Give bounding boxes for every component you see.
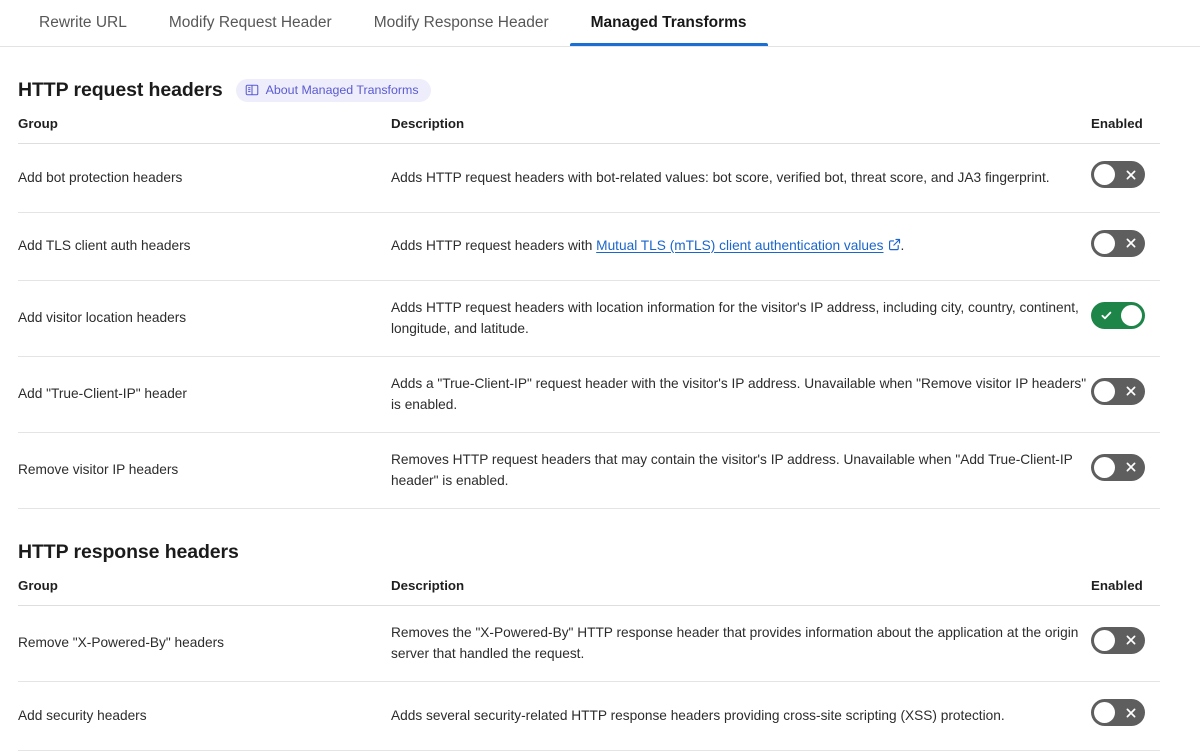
row-description: Adds HTTP request headers with bot-relat… xyxy=(391,144,1091,213)
row-group-label: Add bot protection headers xyxy=(18,144,391,213)
tab-rewrite-url[interactable]: Rewrite URL xyxy=(18,0,148,46)
column-header-enabled: Enabled xyxy=(1091,116,1160,144)
toggle-remove-visitor-ip-headers[interactable] xyxy=(1091,454,1145,481)
column-header-group: Group xyxy=(18,116,391,144)
request-section-header: HTTP request headers About Managed Trans… xyxy=(18,47,1160,116)
column-header-description: Description xyxy=(391,578,1091,606)
toggle-add-security-headers[interactable] xyxy=(1091,699,1145,726)
book-icon xyxy=(245,83,259,97)
row-description-suffix: . xyxy=(901,238,905,253)
row-group-label: Add "True-Client-IP" header xyxy=(18,357,391,433)
toggle-remove-x-powered-by-headers[interactable] xyxy=(1091,627,1145,654)
toggle-add-true-client-ip-header[interactable] xyxy=(1091,378,1145,405)
check-icon xyxy=(1094,302,1118,329)
table-row: Add bot protection headers Adds HTTP req… xyxy=(18,144,1160,213)
response-headers-table: Group Description Enabled Remove "X-Powe… xyxy=(18,578,1160,751)
close-icon xyxy=(1119,230,1143,257)
toggle-add-bot-protection-headers[interactable] xyxy=(1091,161,1145,188)
table-row: Remove visitor IP headers Removes HTTP r… xyxy=(18,433,1160,509)
row-enabled-cell xyxy=(1091,212,1160,281)
toggle-add-visitor-location-headers[interactable] xyxy=(1091,302,1145,329)
tab-modify-response-header[interactable]: Modify Response Header xyxy=(353,0,570,46)
tab-managed-transforms[interactable]: Managed Transforms xyxy=(570,0,768,46)
response-section-title: HTTP response headers xyxy=(18,540,239,564)
table-row: Add "True-Client-IP" header Adds a "True… xyxy=(18,357,1160,433)
about-managed-transforms-badge[interactable]: About Managed Transforms xyxy=(236,79,431,102)
tab-modify-request-header[interactable]: Modify Request Header xyxy=(148,0,353,46)
table-row: Remove "X-Powered-By" headers Removes th… xyxy=(18,606,1160,682)
row-description: Removes the "X-Powered-By" HTTP response… xyxy=(391,606,1091,682)
row-description-prefix: Adds HTTP request headers with xyxy=(391,238,596,253)
tab-bar: Rewrite URL Modify Request Header Modify… xyxy=(0,0,1200,47)
request-headers-table: Group Description Enabled Add bot protec… xyxy=(18,116,1160,509)
toggle-knob xyxy=(1094,702,1115,723)
row-enabled-cell xyxy=(1091,682,1160,751)
column-header-group: Group xyxy=(18,578,391,606)
toggle-knob xyxy=(1094,457,1115,478)
http-request-headers-section: HTTP request headers About Managed Trans… xyxy=(0,47,1200,509)
close-icon xyxy=(1119,699,1143,726)
close-icon xyxy=(1119,378,1143,405)
about-managed-transforms-label: About Managed Transforms xyxy=(266,83,419,98)
toggle-add-tls-client-auth-headers[interactable] xyxy=(1091,230,1145,257)
page-title: HTTP request headers xyxy=(18,78,223,102)
row-group-label: Add visitor location headers xyxy=(18,281,391,357)
toggle-knob xyxy=(1094,233,1115,254)
close-icon xyxy=(1119,454,1143,481)
row-group-label: Remove "X-Powered-By" headers xyxy=(18,606,391,682)
row-group-label: Remove visitor IP headers xyxy=(18,433,391,509)
table-header-row: Group Description Enabled xyxy=(18,578,1160,606)
row-enabled-cell xyxy=(1091,357,1160,433)
row-enabled-cell xyxy=(1091,144,1160,213)
mtls-docs-link[interactable]: Mutual TLS (mTLS) client authentication … xyxy=(596,238,883,253)
toggle-knob xyxy=(1094,630,1115,651)
row-group-label: Add security headers xyxy=(18,682,391,751)
row-description: Adds HTTP request headers with location … xyxy=(391,281,1091,357)
column-header-description: Description xyxy=(391,116,1091,144)
toggle-knob xyxy=(1094,164,1115,185)
row-description: Removes HTTP request headers that may co… xyxy=(391,433,1091,509)
table-row: Add TLS client auth headers Adds HTTP re… xyxy=(18,212,1160,281)
toggle-knob xyxy=(1121,305,1142,326)
row-enabled-cell xyxy=(1091,281,1160,357)
close-icon xyxy=(1119,627,1143,654)
row-enabled-cell xyxy=(1091,433,1160,509)
table-row: Add security headers Adds several securi… xyxy=(18,682,1160,751)
table-header-row: Group Description Enabled xyxy=(18,116,1160,144)
response-section-header: HTTP response headers xyxy=(18,509,1160,578)
external-link-icon[interactable] xyxy=(888,237,901,258)
table-row: Add visitor location headers Adds HTTP r… xyxy=(18,281,1160,357)
http-response-headers-section: HTTP response headers Group Description … xyxy=(0,509,1200,751)
close-icon xyxy=(1119,161,1143,188)
row-group-label: Add TLS client auth headers xyxy=(18,212,391,281)
row-description: Adds a "True-Client-IP" request header w… xyxy=(391,357,1091,433)
row-description: Adds HTTP request headers with Mutual TL… xyxy=(391,212,1091,281)
column-header-enabled: Enabled xyxy=(1091,578,1160,606)
toggle-knob xyxy=(1094,381,1115,402)
row-description: Adds several security-related HTTP respo… xyxy=(391,682,1091,751)
row-enabled-cell xyxy=(1091,606,1160,682)
